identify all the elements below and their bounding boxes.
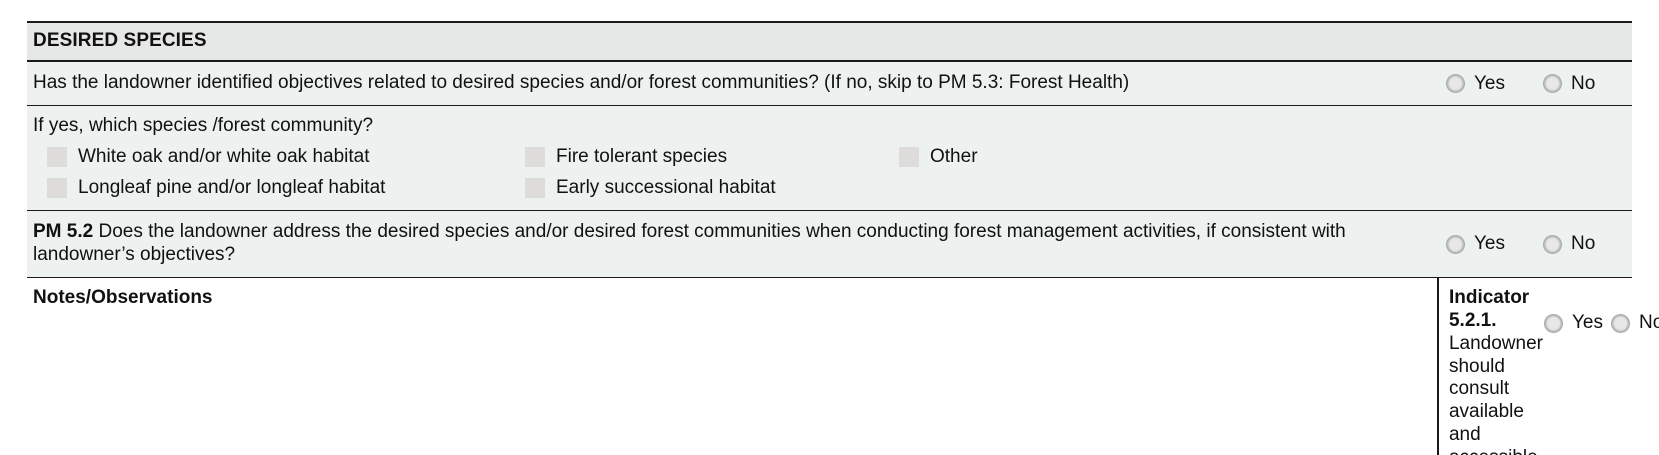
indicator-cell: Indicator 5.2.1. Landowner should consul… bbox=[1438, 278, 1535, 455]
pm-5-2-no-cell: No bbox=[1535, 211, 1632, 278]
checkbox-label: Fire tolerant species bbox=[556, 146, 727, 168]
pm-5-2-question: PM 5.2 Does the landowner address the de… bbox=[27, 211, 1438, 278]
species-options-grid: White oak and/or white oak habitat Fire … bbox=[33, 146, 1626, 199]
question-1-yes-cell: Yes bbox=[1438, 61, 1535, 106]
indicator-yes-label: Yes bbox=[1572, 312, 1603, 334]
checkbox-icon[interactable] bbox=[899, 147, 919, 167]
checkbox-label: Other bbox=[930, 146, 978, 168]
question-1-text: Has the landowner identified objectives … bbox=[27, 61, 1438, 106]
pm-5-2-yes-cell: Yes bbox=[1438, 211, 1535, 278]
checkbox-icon[interactable] bbox=[525, 147, 545, 167]
indicator-code: 5.2.1. bbox=[1449, 310, 1497, 331]
indicator-yes-option[interactable]: Yes bbox=[1536, 312, 1603, 334]
question-1-no-option[interactable]: No bbox=[1535, 73, 1632, 95]
checkbox-option-early-successional[interactable]: Early successional habitat bbox=[525, 177, 776, 199]
notes-indicator-row: Notes/Observations Indicator 5.2.1. Land… bbox=[27, 278, 1632, 455]
question-row-1: Has the landowner identified objectives … bbox=[27, 61, 1632, 106]
radio-button-icon[interactable] bbox=[1543, 74, 1562, 93]
checkbox-icon[interactable] bbox=[47, 147, 67, 167]
indicator-no-option[interactable]: No bbox=[1603, 312, 1659, 334]
pm-5-2-yes-label: Yes bbox=[1474, 233, 1505, 255]
pm-5-2-code: PM 5.2 bbox=[33, 221, 93, 242]
question-1-yes-label: Yes bbox=[1474, 73, 1505, 95]
desired-species-form-table: DESIRED SPECIES Has the landowner identi… bbox=[27, 21, 1632, 455]
notes-observations-cell[interactable]: Notes/Observations bbox=[27, 278, 1438, 455]
radio-button-icon[interactable] bbox=[1446, 74, 1465, 93]
indicator-title: Indicator bbox=[1449, 287, 1525, 310]
species-checkbox-row: If yes, which species /forest community?… bbox=[27, 106, 1632, 211]
checkbox-label: Early successional habitat bbox=[556, 177, 776, 199]
pm-5-2-no-label: No bbox=[1571, 233, 1595, 255]
checkbox-label: White oak and/or white oak habitat bbox=[78, 146, 370, 168]
radio-button-icon[interactable] bbox=[1446, 235, 1465, 254]
pm-5-2-row: PM 5.2 Does the landowner address the de… bbox=[27, 211, 1632, 278]
page-title: DESIRED SPECIES bbox=[33, 30, 207, 51]
indicator-body: 5.2.1. Landowner should consult availabl… bbox=[1449, 310, 1525, 455]
pm-5-2-no-option[interactable]: No bbox=[1535, 233, 1632, 255]
checkbox-option-fire-tolerant[interactable]: Fire tolerant species bbox=[525, 146, 727, 168]
section-header-row: DESIRED SPECIES bbox=[27, 22, 1632, 61]
species-prompt: If yes, which species /forest community? bbox=[33, 115, 1626, 137]
form-page: DESIRED SPECIES Has the landowner identi… bbox=[0, 0, 1659, 455]
question-1-no-label: No bbox=[1571, 73, 1595, 95]
checkbox-option-other[interactable]: Other bbox=[899, 146, 978, 168]
radio-button-icon[interactable] bbox=[1611, 314, 1630, 333]
species-options-line-1: White oak and/or white oak habitat Fire … bbox=[33, 146, 1626, 168]
pm-5-2-text: Does the landowner address the desired s… bbox=[33, 221, 1346, 264]
checkbox-label: Longleaf pine and/or longleaf habitat bbox=[78, 177, 385, 199]
checkbox-option-white-oak[interactable]: White oak and/or white oak habitat bbox=[47, 146, 370, 168]
checkbox-icon[interactable] bbox=[47, 178, 67, 198]
radio-button-icon[interactable] bbox=[1543, 235, 1562, 254]
notes-observations-title: Notes/Observations bbox=[33, 287, 1429, 309]
species-checkbox-cell: If yes, which species /forest community?… bbox=[27, 106, 1632, 211]
pm-5-2-yes-option[interactable]: Yes bbox=[1438, 233, 1535, 255]
species-options-line-2: Longleaf pine and/or longleaf habitat Ea… bbox=[33, 177, 1626, 199]
question-1-yes-option[interactable]: Yes bbox=[1438, 73, 1535, 95]
indicator-radio-cell: Yes No bbox=[1535, 278, 1632, 455]
indicator-no-label: No bbox=[1639, 312, 1659, 334]
checkbox-icon[interactable] bbox=[525, 178, 545, 198]
radio-button-icon[interactable] bbox=[1544, 314, 1563, 333]
question-1-no-cell: No bbox=[1535, 61, 1632, 106]
checkbox-option-longleaf-pine[interactable]: Longleaf pine and/or longleaf habitat bbox=[47, 177, 385, 199]
section-header-cell: DESIRED SPECIES bbox=[27, 22, 1632, 61]
